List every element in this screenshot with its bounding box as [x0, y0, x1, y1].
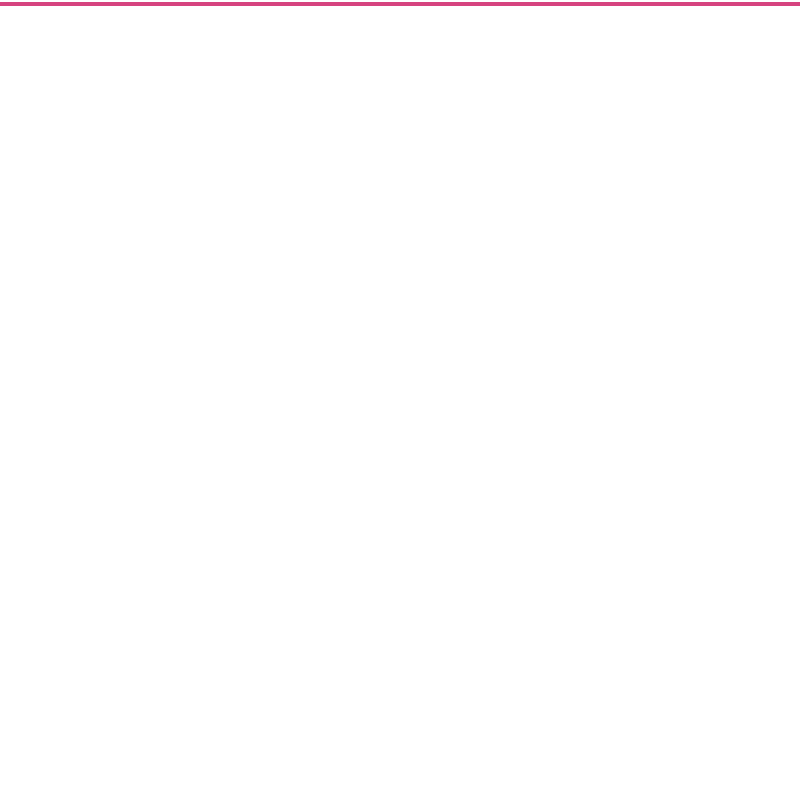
product-function-infographic [0, 0, 800, 800]
top-accent-bar [0, 2, 800, 6]
